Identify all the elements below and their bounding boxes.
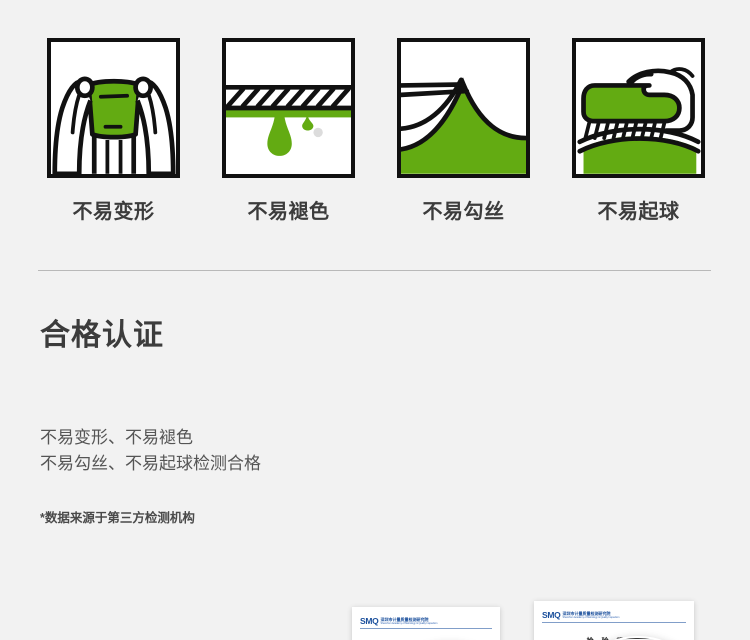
- page-title: 合格认证: [40, 310, 340, 354]
- pilling-brush-icon: [572, 38, 705, 178]
- color-drip-icon: [222, 38, 355, 178]
- smq-logo: SMQ 深圳市计量质量检测研究院 Shenzhen Academy of Met…: [542, 610, 686, 620]
- certification-description: 不易变形、不易褪色 不易勾丝、不易起球检测合格: [40, 425, 261, 477]
- inspection-report-document-2: SMQ 深圳市计量质量检测研究院 Shenzhen Academy of Met…: [534, 601, 694, 640]
- feature-icon-row: 不易变形: [0, 0, 750, 240]
- certification-note: *数据来源于第三方检测机构: [40, 507, 195, 526]
- certification-heading-block: 合格认证: [40, 310, 340, 354]
- feature-label: 不易变形: [47, 195, 180, 224]
- feature-label: 不易褪色: [222, 195, 355, 224]
- smq-logo-mark: SMQ: [360, 616, 378, 626]
- product-detail-page: 不易变形: [0, 0, 750, 640]
- logo-rule: [542, 622, 686, 623]
- smq-logo: SMQ 深圳市计量质量检测研究院 Shenzhen Academy of Met…: [360, 616, 492, 626]
- feature-item-anti-fade: 不易褪色: [222, 38, 355, 224]
- snag-pull-icon: [397, 38, 530, 178]
- stretch-garment-icon: [47, 38, 180, 178]
- feature-label: 不易起球: [572, 195, 705, 224]
- feature-label: 不易勾丝: [397, 195, 530, 224]
- certification-description-line1: 不易变形、不易褪色: [40, 425, 261, 451]
- inspection-report-document-1: SMQ 深圳市计量质量检测研究院 Shenzhen Academy of Met…: [352, 607, 500, 640]
- section-divider: [38, 270, 711, 271]
- feature-item-anti-deform: 不易变形: [47, 38, 180, 224]
- feature-item-anti-pilling: 不易起球: [572, 38, 705, 224]
- feature-item-anti-snag: 不易勾丝: [397, 38, 530, 224]
- certification-description-line2: 不易勾丝、不易起球检测合格: [40, 451, 261, 477]
- smq-logo-mark: SMQ: [542, 610, 560, 620]
- smq-logo-text: 深圳市计量质量检测研究院 Shenzhen Academy of Metrolo…: [380, 617, 437, 625]
- certification-section: 合格认证 不易变形、不易褪色 不易勾丝、不易起球检测合格 *数据来源于第三方检测…: [0, 290, 750, 580]
- logo-rule: [360, 628, 492, 629]
- smq-logo-text: 深圳市计量质量检测研究院 Shenzhen Academy of Metrolo…: [562, 611, 619, 619]
